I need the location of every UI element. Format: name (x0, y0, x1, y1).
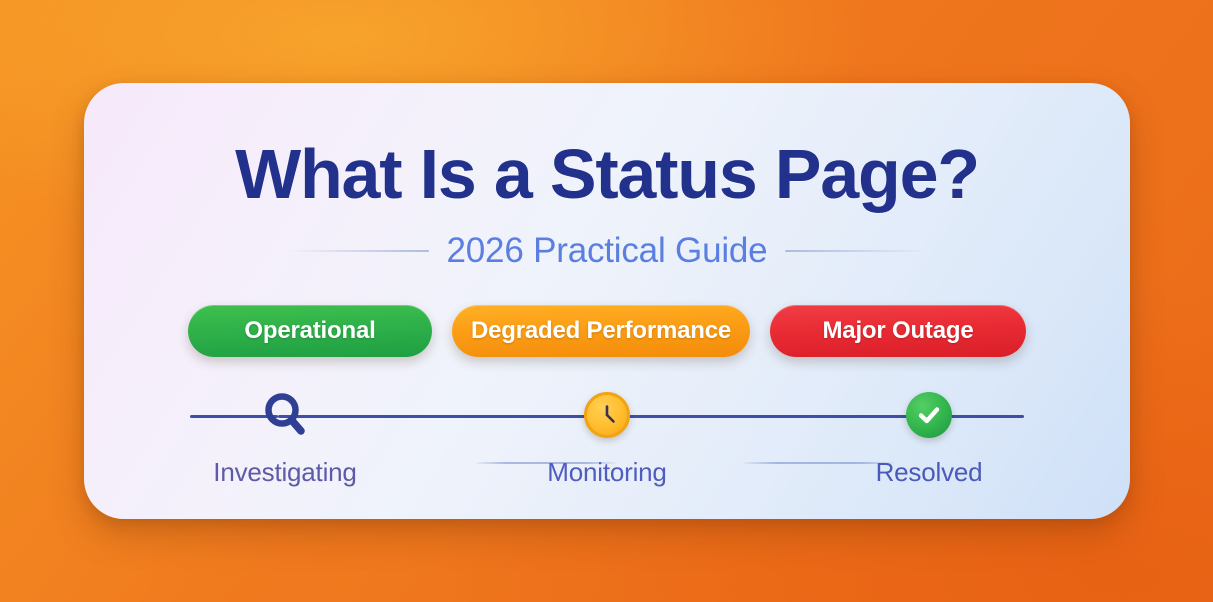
subtitle-rule-left (287, 250, 429, 252)
status-badge-major-outage-label: Major Outage (823, 317, 974, 345)
timeline-steps: Investigating Monitoring (190, 383, 1024, 488)
timeline-step-investigating-label: Investigating (213, 457, 356, 488)
timeline-step-monitoring[interactable]: Monitoring (512, 383, 702, 488)
subtitle-rule-right (785, 250, 927, 252)
status-badge-degraded-performance[interactable]: Degraded Performance (452, 305, 750, 357)
timeline-step-investigating[interactable]: Investigating (190, 383, 380, 488)
check-circle-icon (897, 383, 961, 447)
timeline-step-monitoring-label: Monitoring (547, 457, 666, 488)
status-badges-row: Operational Degraded Performance Major O… (84, 305, 1130, 357)
status-badge-operational-label: Operational (244, 317, 375, 345)
incident-timeline: Investigating Monitoring (84, 383, 1130, 493)
status-badge-degraded-performance-label: Degraded Performance (471, 317, 731, 345)
timeline-step-resolved-label: Resolved (876, 457, 983, 488)
status-page-card: What Is a Status Page? 2026 Practical Gu… (84, 83, 1130, 519)
status-badge-major-outage[interactable]: Major Outage (770, 305, 1026, 357)
subtitle-row: 2026 Practical Guide (84, 233, 1130, 268)
status-badge-operational[interactable]: Operational (188, 305, 432, 357)
page-subtitle: 2026 Practical Guide (447, 233, 768, 268)
timeline-step-resolved[interactable]: Resolved (834, 383, 1024, 488)
page-title: What Is a Status Page? (84, 139, 1130, 209)
clock-icon (575, 383, 639, 447)
title-row: What Is a Status Page? (84, 139, 1130, 209)
magnifying-glass-icon (253, 383, 317, 447)
